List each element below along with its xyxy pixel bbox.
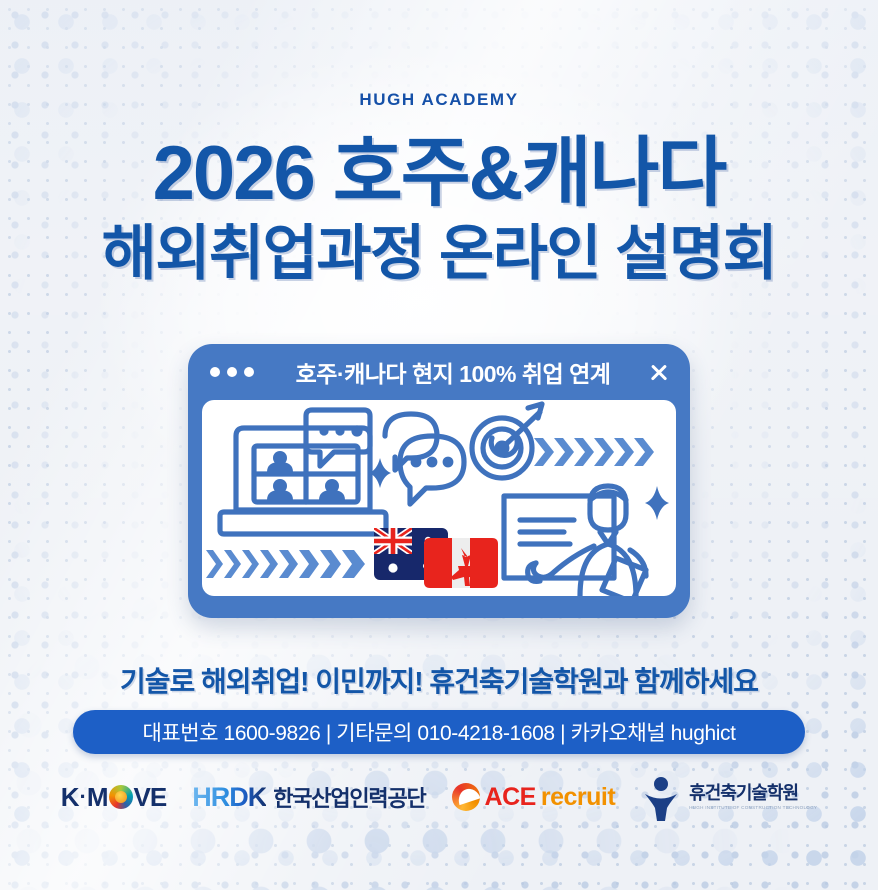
brand-kicker: HUGH ACADEMY bbox=[0, 90, 878, 110]
logo-ace-recruit: ACE recruit bbox=[452, 783, 616, 812]
chevron-arrows-bottom-left bbox=[206, 550, 365, 578]
kmove-letters-ve: VE bbox=[134, 782, 167, 813]
hugh-text-block: 휴건축기술학원 HUGH INSTITUTE OF CONSTRUCTION T… bbox=[689, 784, 817, 811]
hugh-person-icon bbox=[641, 775, 681, 819]
kmove-letter-m: M bbox=[87, 782, 108, 813]
page-title: 2026 호주&캐나다 해외취업과정 온라인 설명회 bbox=[0, 136, 878, 284]
illustration-svg bbox=[202, 400, 676, 596]
kmove-letter-k: K bbox=[61, 782, 79, 813]
laptop-chat-dots-icon bbox=[319, 425, 362, 436]
traffic-dot-3 bbox=[244, 367, 254, 377]
title-line-1: 2026 호주&캐나다 bbox=[0, 136, 878, 212]
ace-wordmark: ACE bbox=[485, 783, 536, 812]
browser-titlebar: 호주·캐나다 현지 100% 취업 연계 bbox=[188, 344, 690, 400]
close-icon[interactable] bbox=[646, 359, 672, 385]
hrdk-korean-name: 한국산업인력공단 bbox=[273, 781, 425, 813]
title-line-2: 해외취업과정 온라인 설명회 bbox=[0, 224, 878, 284]
kmove-dot: · bbox=[80, 784, 86, 810]
ace-swirl-icon bbox=[452, 783, 480, 811]
contact-text: 대표번호 1600-9826 | 기타문의 010-4218-1608 | 카카… bbox=[142, 717, 735, 747]
browser-window-card: 호주·캐나다 현지 100% 취업 연계 bbox=[188, 344, 690, 618]
contact-bar[interactable]: 대표번호 1600-9826 | 기타문의 010-4218-1608 | 카카… bbox=[73, 710, 805, 754]
partner-logo-strip: K · M VE HRDK 한국산업인력공단 ACE recruit bbox=[0, 775, 878, 819]
sparkle-icon-right bbox=[645, 486, 669, 520]
logo-hugh-institute: 휴건축기술학원 HUGH INSTITUTE OF CONSTRUCTION T… bbox=[641, 775, 817, 819]
laptop-video-call-icon bbox=[220, 428, 386, 534]
kmove-globe-icon bbox=[109, 785, 133, 809]
window-traffic-lights-icon bbox=[210, 367, 254, 377]
browser-content-illustration bbox=[202, 400, 676, 596]
traffic-dot-1 bbox=[210, 367, 220, 377]
speech-bubble-dots-icon bbox=[411, 457, 454, 468]
poster-root: HUGH ACADEMY 2026 호주&캐나다 해외취업과정 온라인 설명회 … bbox=[0, 0, 878, 890]
hugh-english-name: HUGH INSTITUTE OF CONSTRUCTION TECHNOLOG… bbox=[689, 806, 817, 811]
canada-flag bbox=[424, 538, 498, 588]
chevron-arrows-top-right bbox=[534, 438, 654, 466]
ace-recruit-word: recruit bbox=[541, 783, 615, 812]
logo-hrdk: HRDK 한국산업인력공단 bbox=[192, 781, 425, 813]
hugh-korean-name: 휴건축기술학원 bbox=[689, 784, 817, 803]
logo-k-move: K · M VE bbox=[61, 782, 166, 813]
browser-window-title: 호주·캐나다 현지 100% 취업 연계 bbox=[260, 355, 646, 389]
traffic-dot-2 bbox=[227, 367, 237, 377]
slogan-text: 기술로 해외취업! 이민까지! 휴건축기술학원과 함께하세요 bbox=[0, 660, 878, 700]
hrdk-wordmark: HRDK bbox=[192, 782, 266, 813]
